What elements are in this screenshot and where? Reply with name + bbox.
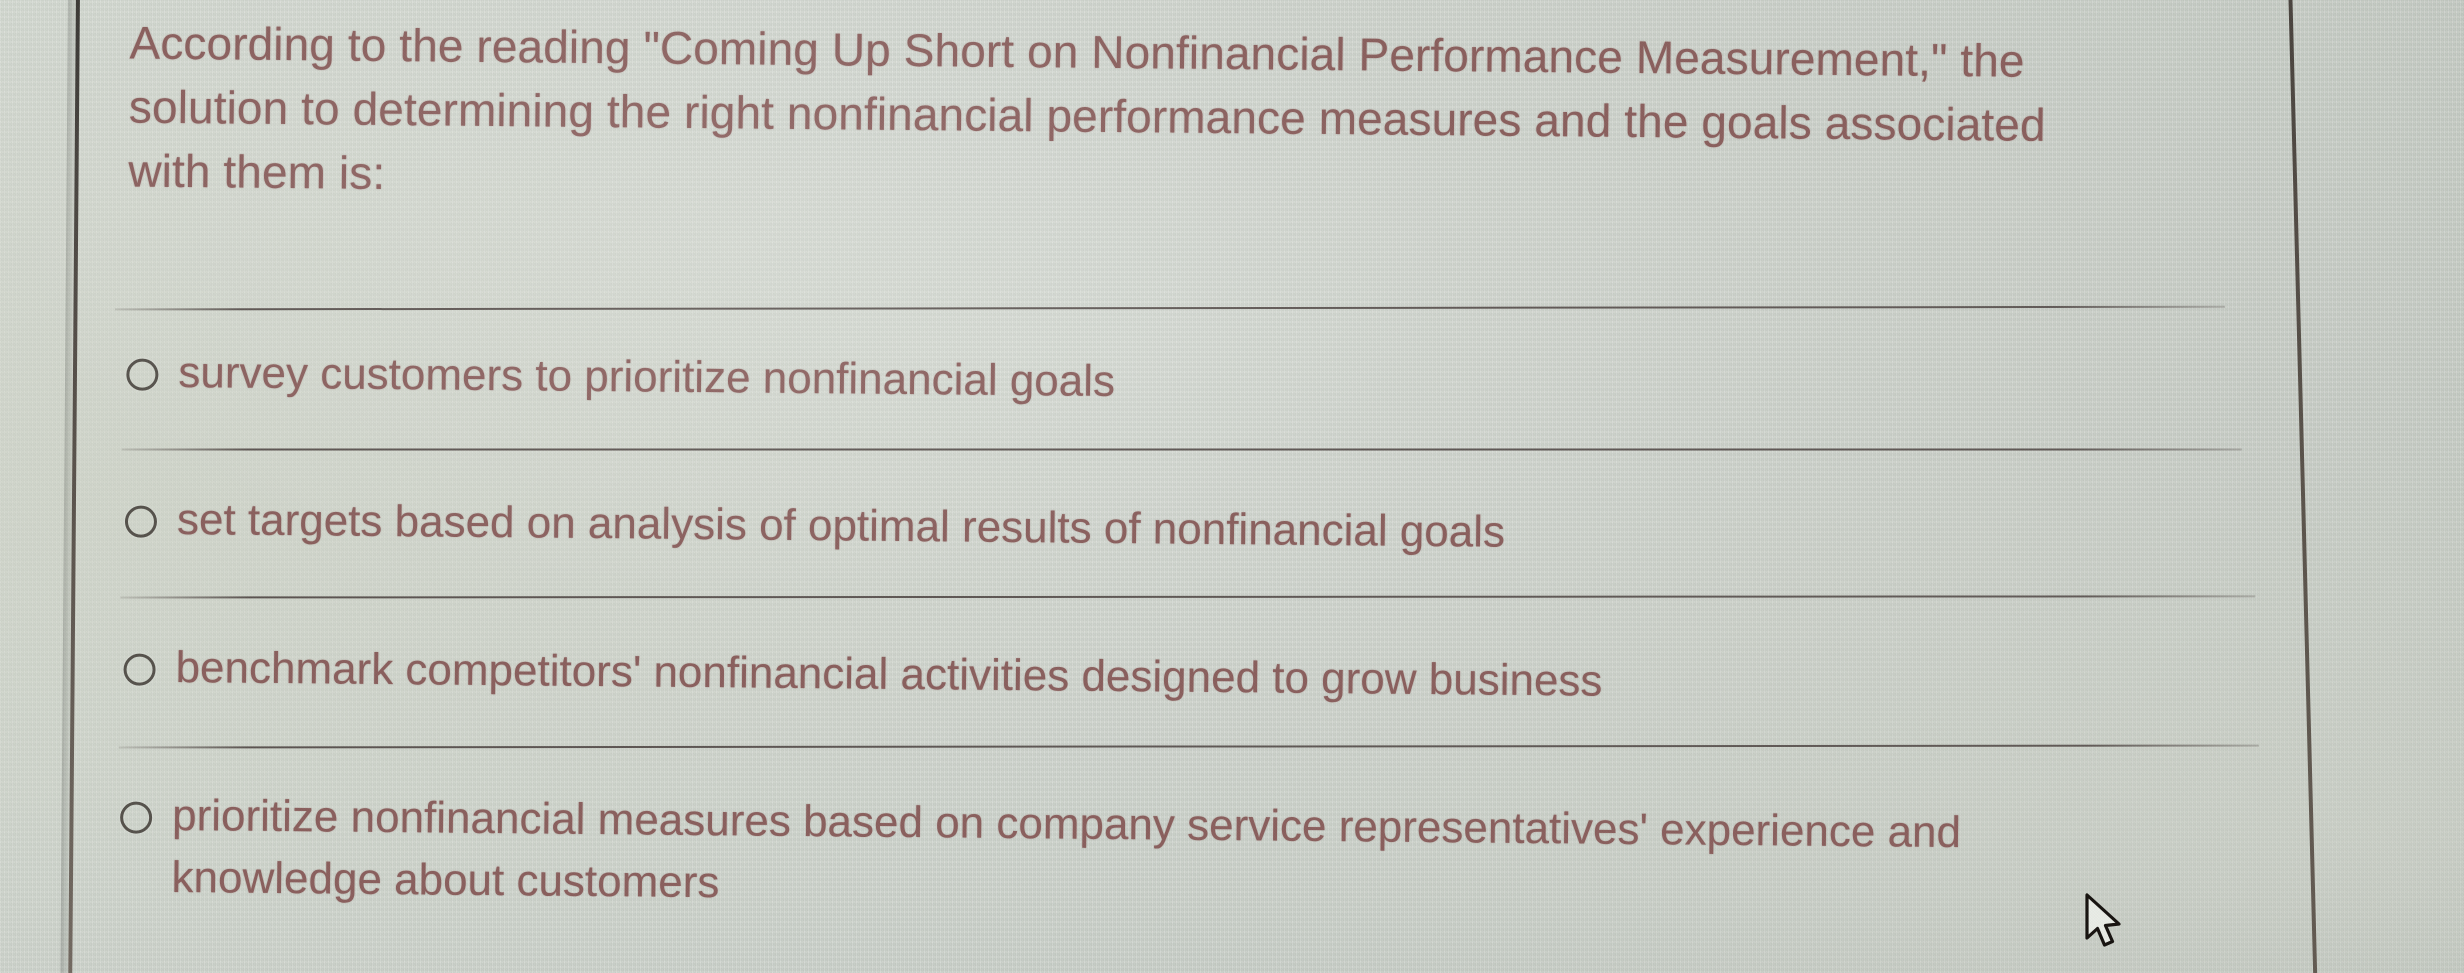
photographed-screen: According to the reading "Coming Up Shor… (0, 0, 2464, 973)
option-row-benchmark-competitors[interactable]: benchmark competitors' nonfinancial acti… (123, 636, 2174, 718)
radio-button-icon[interactable] (120, 801, 152, 833)
divider-rule-3 (120, 595, 2255, 598)
divider-rule-4 (119, 745, 2259, 749)
option-row-set-targets[interactable]: set targets based on analysis of optimal… (125, 488, 2176, 570)
radio-button-icon[interactable] (123, 653, 155, 685)
divider-rule-2 (122, 448, 2242, 450)
option-row-prioritize-nonfinancial-measures[interactable]: prioritize nonfinancial measures based o… (119, 784, 2240, 928)
option-label: benchmark competitors' nonfinancial acti… (175, 637, 1602, 713)
option-label: prioritize nonfinancial measures based o… (171, 785, 1961, 926)
option-row-survey-customers[interactable]: survey customers to prioritize nonfinanc… (126, 342, 2177, 424)
radio-button-icon[interactable] (125, 505, 157, 537)
question-prompt: According to the reading "Coming Up Shor… (128, 11, 2130, 222)
quiz-content: According to the reading "Coming Up Shor… (0, 0, 2464, 973)
radio-button-icon[interactable] (126, 359, 158, 391)
option-label: survey customers to prioritize nonfinanc… (178, 342, 1115, 413)
option-label: set targets based on analysis of optimal… (177, 489, 1506, 564)
divider-rule-1 (115, 306, 2225, 311)
